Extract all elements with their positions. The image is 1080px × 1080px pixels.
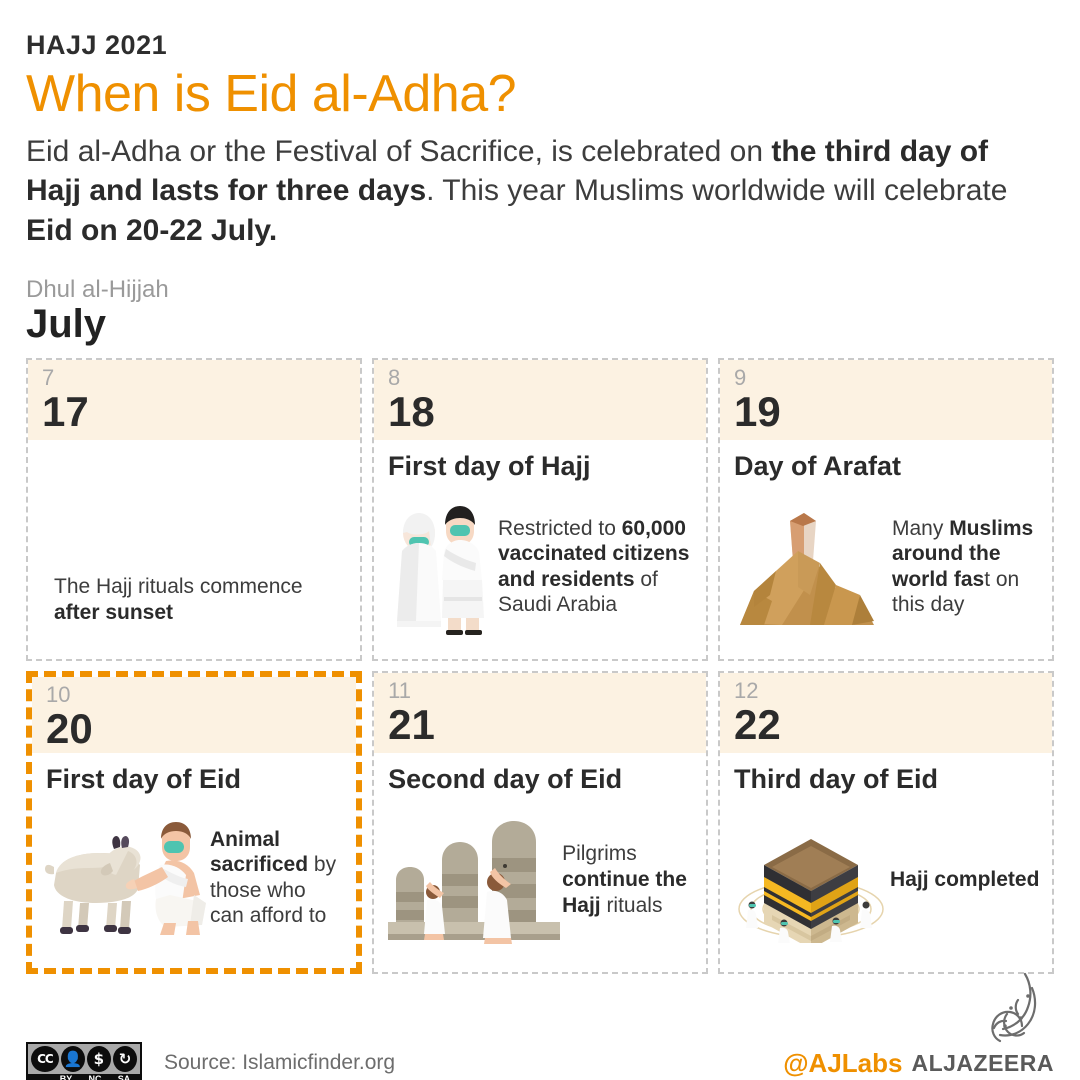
footer: CC 👤 $ ↻ BY NC SA Source: Islamicfinder.… <box>26 1030 1054 1080</box>
cc-sa-icon: ↻ <box>113 1046 137 1072</box>
cc-nc-icon: $ <box>87 1046 111 1072</box>
note-text-1: The Hajj rituals commence <box>54 575 303 598</box>
hijri-day: 9 <box>734 366 1038 389</box>
note-text-2: rituals <box>601 894 663 917</box>
cell-note: Many Muslims around the world fast on th… <box>892 516 1040 618</box>
source-credit: Source: Islamicfinder.org <box>164 1051 395 1075</box>
calendar-grid: 7 17 The Hajj rituals commence after sun… <box>26 358 1054 974</box>
cc-sa-label: SA <box>111 1074 137 1080</box>
note-text-1: Many <box>892 517 949 540</box>
month-label-block: Dhul al-Hijjah July <box>26 277 1054 346</box>
cell-header: 7 17 <box>28 360 360 440</box>
standfirst-text-1: Eid al-Adha or the Festival of Sacrifice… <box>26 135 771 168</box>
hijri-month-label: Dhul al-Hijjah <box>26 277 1054 303</box>
gregorian-day: 19 <box>734 391 1038 433</box>
calendar-row: 7 17 The Hajj rituals commence after sun… <box>26 358 1054 661</box>
cc-labels-row: BY NC SA <box>28 1074 140 1080</box>
hijri-day: 11 <box>388 679 692 702</box>
calendar-row: 10 20 First day of Eid <box>26 671 1054 974</box>
jamarat-pillars-icon <box>386 816 562 944</box>
gregorian-month-label: July <box>26 302 1054 347</box>
cell-title: Third day of Eid <box>720 753 1052 795</box>
cc-by-label: BY <box>53 1074 79 1080</box>
cell-body: Animal sacrificed by those who can affor… <box>32 795 356 968</box>
page-title: When is Eid al-Adha? <box>26 67 1054 122</box>
cell-note: The Hajj rituals commence after sunset <box>40 574 348 643</box>
cell-header: 12 22 <box>720 673 1052 753</box>
hijri-day: 8 <box>388 366 692 389</box>
cell-title: First day of Hajj <box>374 440 706 482</box>
gregorian-day: 20 <box>46 708 342 750</box>
cc-icon: CC <box>31 1046 59 1072</box>
hijri-day: 10 <box>46 683 342 706</box>
cc-nc-label: NC <box>82 1074 108 1080</box>
kaaba-icon <box>732 817 890 943</box>
cell-header: 10 20 <box>32 677 356 753</box>
hijri-day: 7 <box>42 366 346 389</box>
gregorian-day: 21 <box>388 704 692 746</box>
brand-block: @AJLabs ALJAZEERA <box>783 1048 1054 1079</box>
cell-body: The Hajj rituals commence after sunset <box>28 440 360 659</box>
note-text-1: Pilgrims <box>562 842 637 865</box>
note-bold-1: after sunset <box>54 601 173 624</box>
cell-header: 8 18 <box>374 360 706 440</box>
calendar-cell-19[interactable]: 9 19 Day of Arafat <box>718 358 1054 661</box>
two-pilgrims-icon <box>386 497 498 637</box>
hijri-day: 12 <box>734 679 1038 702</box>
cell-header: 11 21 <box>374 673 706 753</box>
ajlabs-handle[interactable]: @AJLabs <box>783 1048 902 1079</box>
note-bold-1: Animal sacrificed <box>210 828 308 877</box>
page-kicker: HAJJ 2021 <box>26 30 1054 61</box>
cell-body: Hajj completed <box>720 795 1052 972</box>
cell-body: Restricted to 60,000 vaccinated citizens… <box>374 482 706 659</box>
calendar-cell-20[interactable]: 10 20 First day of Eid <box>26 671 362 974</box>
cell-body: Many Muslims around the world fast on th… <box>720 482 1052 659</box>
goat-sacrifice-icon <box>44 817 210 939</box>
cell-title: First day of Eid <box>32 753 356 795</box>
cell-title: Day of Arafat <box>720 440 1052 482</box>
gregorian-day: 17 <box>42 391 346 433</box>
aljazeera-wordmark: ALJAZEERA <box>911 1050 1054 1077</box>
gregorian-day: 22 <box>734 704 1038 746</box>
cell-note: Restricted to 60,000 vaccinated citizens… <box>498 516 694 618</box>
calendar-cell-22[interactable]: 12 22 Third day of Eid <box>718 671 1054 974</box>
gregorian-day: 18 <box>388 391 692 433</box>
cell-title: Second day of Eid <box>374 753 706 795</box>
note-text-1: Restricted to <box>498 517 622 540</box>
cell-body: Pilgrims continue the Hajj rituals <box>374 795 706 972</box>
cc-by-icon: 👤 <box>61 1046 85 1072</box>
creative-commons-badge[interactable]: CC 👤 $ ↻ BY NC SA <box>26 1042 142 1080</box>
cell-note: Animal sacrificed by those who can affor… <box>210 827 344 929</box>
calendar-cell-21[interactable]: 11 21 Second day of Eid <box>372 671 708 974</box>
calendar-cell-18[interactable]: 8 18 First day of Hajj <box>372 358 708 661</box>
cc-icons-row: CC 👤 $ ↻ <box>28 1044 140 1074</box>
note-bold-1: Hajj completed <box>890 868 1039 891</box>
page-standfirst: Eid al-Adha or the Festival of Sacrifice… <box>26 132 1026 252</box>
mount-arafat-icon <box>732 507 892 627</box>
cell-note: Pilgrims continue the Hajj rituals <box>562 841 694 918</box>
cell-header: 9 19 <box>720 360 1052 440</box>
infographic-root: HAJJ 2021 When is Eid al-Adha? Eid al-Ad… <box>0 30 1080 1080</box>
standfirst-bold-2: Eid on 20-22 July. <box>26 214 277 247</box>
standfirst-text-2: . This year Muslims worldwide will celeb… <box>426 174 1007 207</box>
cell-note: Hajj completed <box>890 867 1039 893</box>
calendar-cell-17[interactable]: 7 17 The Hajj rituals commence after sun… <box>26 358 362 661</box>
